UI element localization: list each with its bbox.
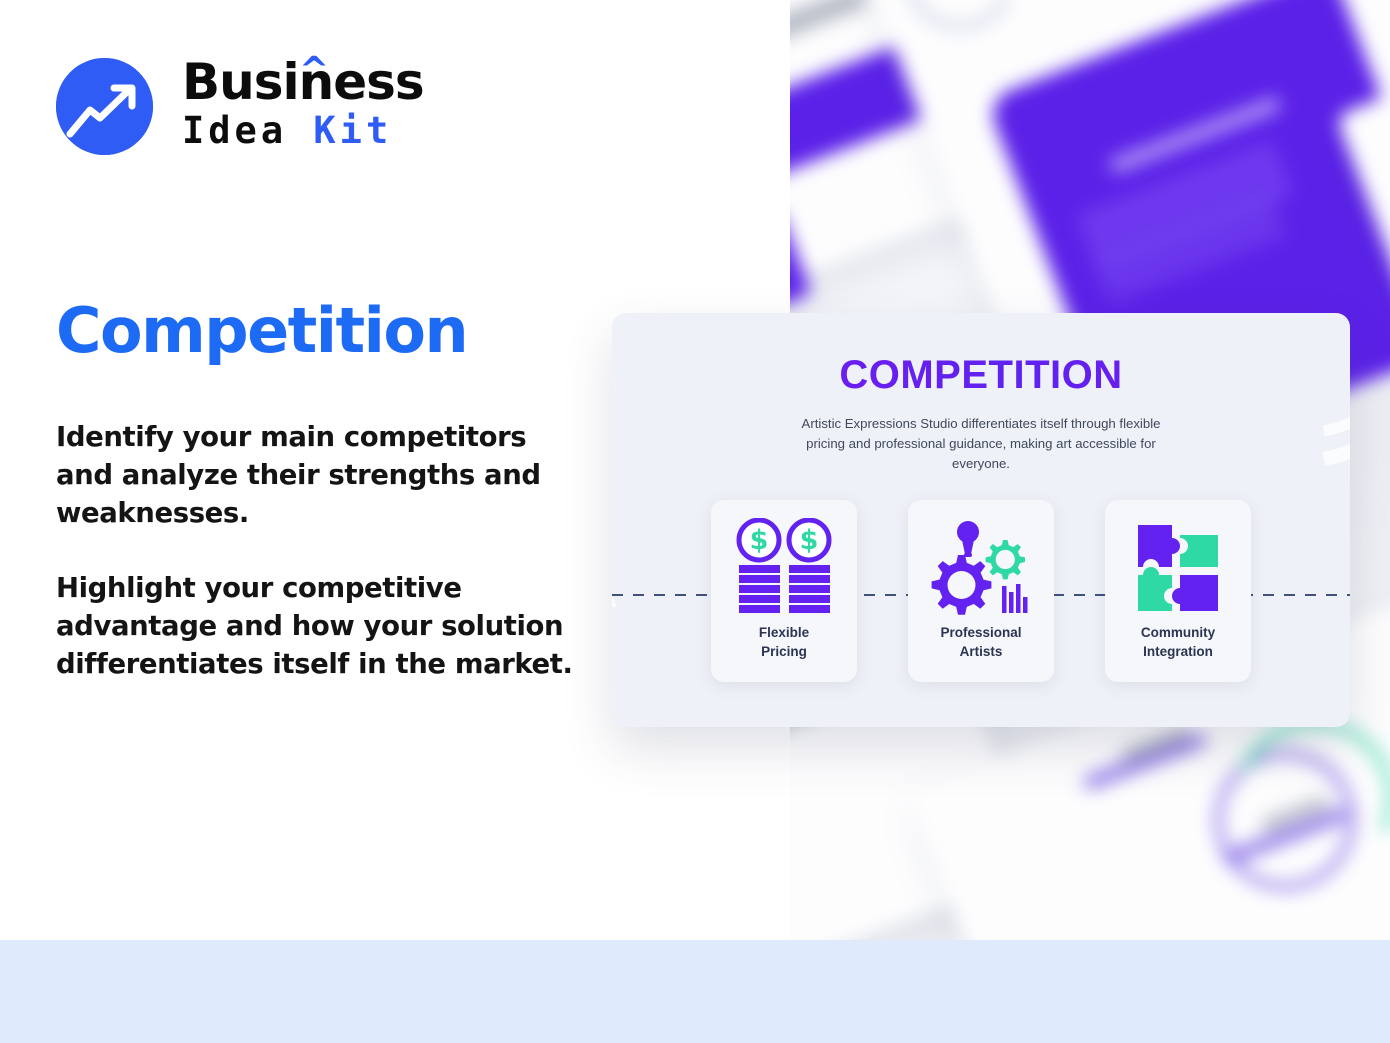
feature-tile-professional-artists[interactable]: Professional Artists bbox=[908, 500, 1054, 682]
feature-tile-label-line2: Integration bbox=[1141, 643, 1215, 662]
slide-canvas: Business ^ Idea Kit Competition Identify… bbox=[0, 0, 1390, 1043]
brand-logo: Business ^ Idea Kit bbox=[56, 56, 456, 156]
brand-name-idea: Idea bbox=[182, 109, 287, 152]
brand-wordmark: Business ^ Idea Kit bbox=[182, 56, 462, 152]
feature-tile-label: Professional Artists bbox=[940, 624, 1021, 661]
brand-name-kit: Kit bbox=[313, 109, 392, 152]
brand-name-line2: Idea Kit bbox=[182, 110, 462, 152]
feature-tile-flexible-pricing[interactable]: $ $ bbox=[711, 500, 857, 682]
gears-lightbulb-barchart-icon bbox=[929, 516, 1033, 620]
puzzle-pieces-icon bbox=[1130, 516, 1226, 620]
feature-tile-label: Flexible Pricing bbox=[759, 624, 809, 661]
body-paragraph-2: Highlight your competitive advantage and… bbox=[56, 569, 576, 683]
bottom-color-band bbox=[0, 940, 1390, 1043]
feature-tile-label-line2: Artists bbox=[940, 643, 1021, 662]
feature-tile-label-line2: Pricing bbox=[759, 643, 809, 662]
feature-tile-label-line1: Flexible bbox=[759, 624, 809, 643]
page-title: Competition bbox=[56, 296, 467, 366]
brand-circumflex-accent-icon: ^ bbox=[299, 53, 328, 89]
feature-tile-community-integration[interactable]: Community Integration bbox=[1105, 500, 1251, 682]
feature-tile-label: Community Integration bbox=[1141, 624, 1215, 661]
feature-tiles: $ $ bbox=[711, 500, 1251, 682]
coin-stacks-dollar-icon: $ $ bbox=[733, 516, 835, 620]
brand-name-line1: Business ^ bbox=[182, 56, 462, 108]
trending-up-chart-arrow-icon bbox=[56, 58, 153, 155]
feature-tile-label-line1: Professional bbox=[940, 624, 1021, 643]
preview-card-subtitle: Artistic Expressions Studio differentiat… bbox=[801, 414, 1161, 474]
svg-text:$: $ bbox=[750, 525, 769, 556]
slide-preview-card[interactable]: COMPETITION Artistic Expressions Studio … bbox=[612, 313, 1350, 727]
svg-text:$: $ bbox=[800, 525, 819, 556]
preview-card-title: COMPETITION bbox=[612, 353, 1350, 397]
body-copy: Identify your main competitors and analy… bbox=[56, 418, 576, 683]
body-paragraph-1: Identify your main competitors and analy… bbox=[56, 418, 576, 532]
feature-tile-label-line1: Community bbox=[1141, 624, 1215, 643]
